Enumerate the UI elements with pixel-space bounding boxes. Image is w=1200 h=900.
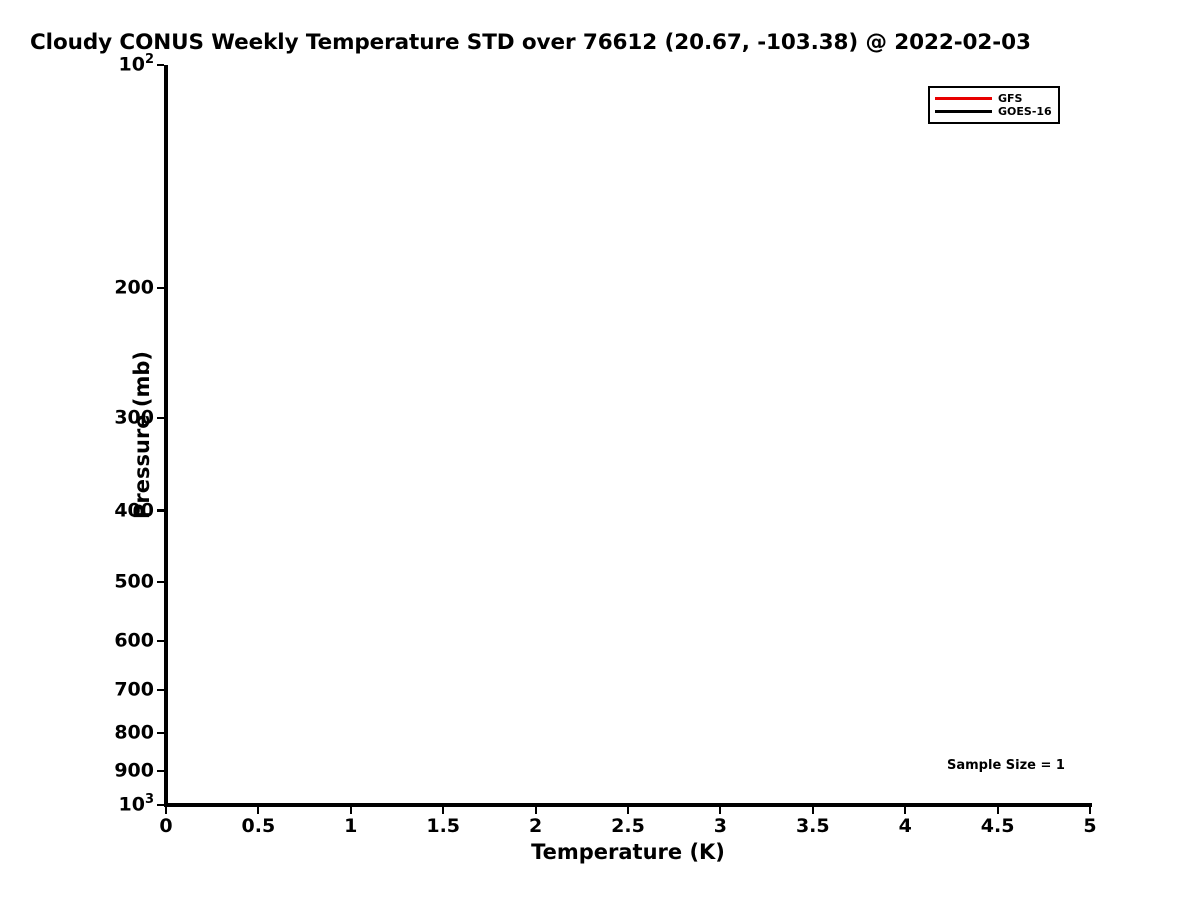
y-axis-tick [157,640,164,642]
x-axis-tick [1089,807,1091,814]
x-axis-tick [812,807,814,814]
y-axis-tick [157,509,164,511]
y-axis-tick [157,689,164,691]
y-axis-tick-label: 103 [119,796,155,815]
x-axis-tick-label: 4.5 [981,817,1015,836]
y-axis-tick-label: 600 [114,631,154,650]
x-axis-tick-label: 0 [159,817,172,836]
y-axis-label: Pressure (mb) [130,351,154,519]
x-axis-tick-label: 2.5 [611,817,645,836]
x-axis-tick [165,807,167,814]
y-axis-tick [157,804,164,806]
y-axis-tick [157,732,164,734]
x-axis-tick-label: 3 [714,817,727,836]
y-axis-tick-label: 102 [119,56,155,75]
y-axis-tick [157,581,164,583]
x-axis-tick [627,807,629,814]
x-axis-tick [442,807,444,814]
x-axis-tick-label: 3.5 [796,817,830,836]
sample-size-annotation: Sample Size = 1 [947,758,1065,773]
y-axis-tick-label: 500 [114,573,154,592]
x-axis-label: Temperature (K) [166,840,1090,864]
y-axis-tick [157,64,164,66]
x-axis-tick [257,807,259,814]
legend-label: GOES-16 [998,106,1052,117]
x-axis-tick [350,807,352,814]
legend-entry-goes-16[interactable]: GOES-16 [935,105,1052,118]
plot-legend[interactable]: GFSGOES-16 [928,86,1060,124]
x-axis-tick [997,807,999,814]
y-axis-tick-label: 200 [114,278,154,297]
x-axis-tick [719,807,721,814]
plot-title: Cloudy CONUS Weekly Temperature STD over… [30,30,1200,56]
y-axis-tick-label: 900 [114,762,154,781]
x-axis-tick-label: 0.5 [242,817,276,836]
y-axis-tick-label: 800 [114,724,154,743]
x-axis-tick [904,807,906,814]
x-axis-tick-label: 5 [1083,817,1096,836]
legend-label: GFS [998,93,1022,104]
legend-entry-gfs[interactable]: GFS [935,92,1052,105]
legend-swatch-goes-16 [935,110,992,113]
y-axis-tick [157,287,164,289]
x-axis-tick [535,807,537,814]
x-axis-tick-label: 4 [899,817,912,836]
legend-swatch-gfs [935,97,992,100]
y-axis-tick-label: 700 [114,681,154,700]
x-axis-tick-label: 1.5 [426,817,460,836]
x-axis-tick-label: 1 [344,817,357,836]
y-axis-tick [157,417,164,419]
x-axis-tick-label: 2 [529,817,542,836]
plot-axes: 102200300400500600700800900103 00.511.52… [166,65,1090,805]
matplotlib-figure: Cloudy CONUS Weekly Temperature STD over… [0,0,1200,900]
y-axis-tick [157,770,164,772]
series-canvas [166,65,1090,805]
